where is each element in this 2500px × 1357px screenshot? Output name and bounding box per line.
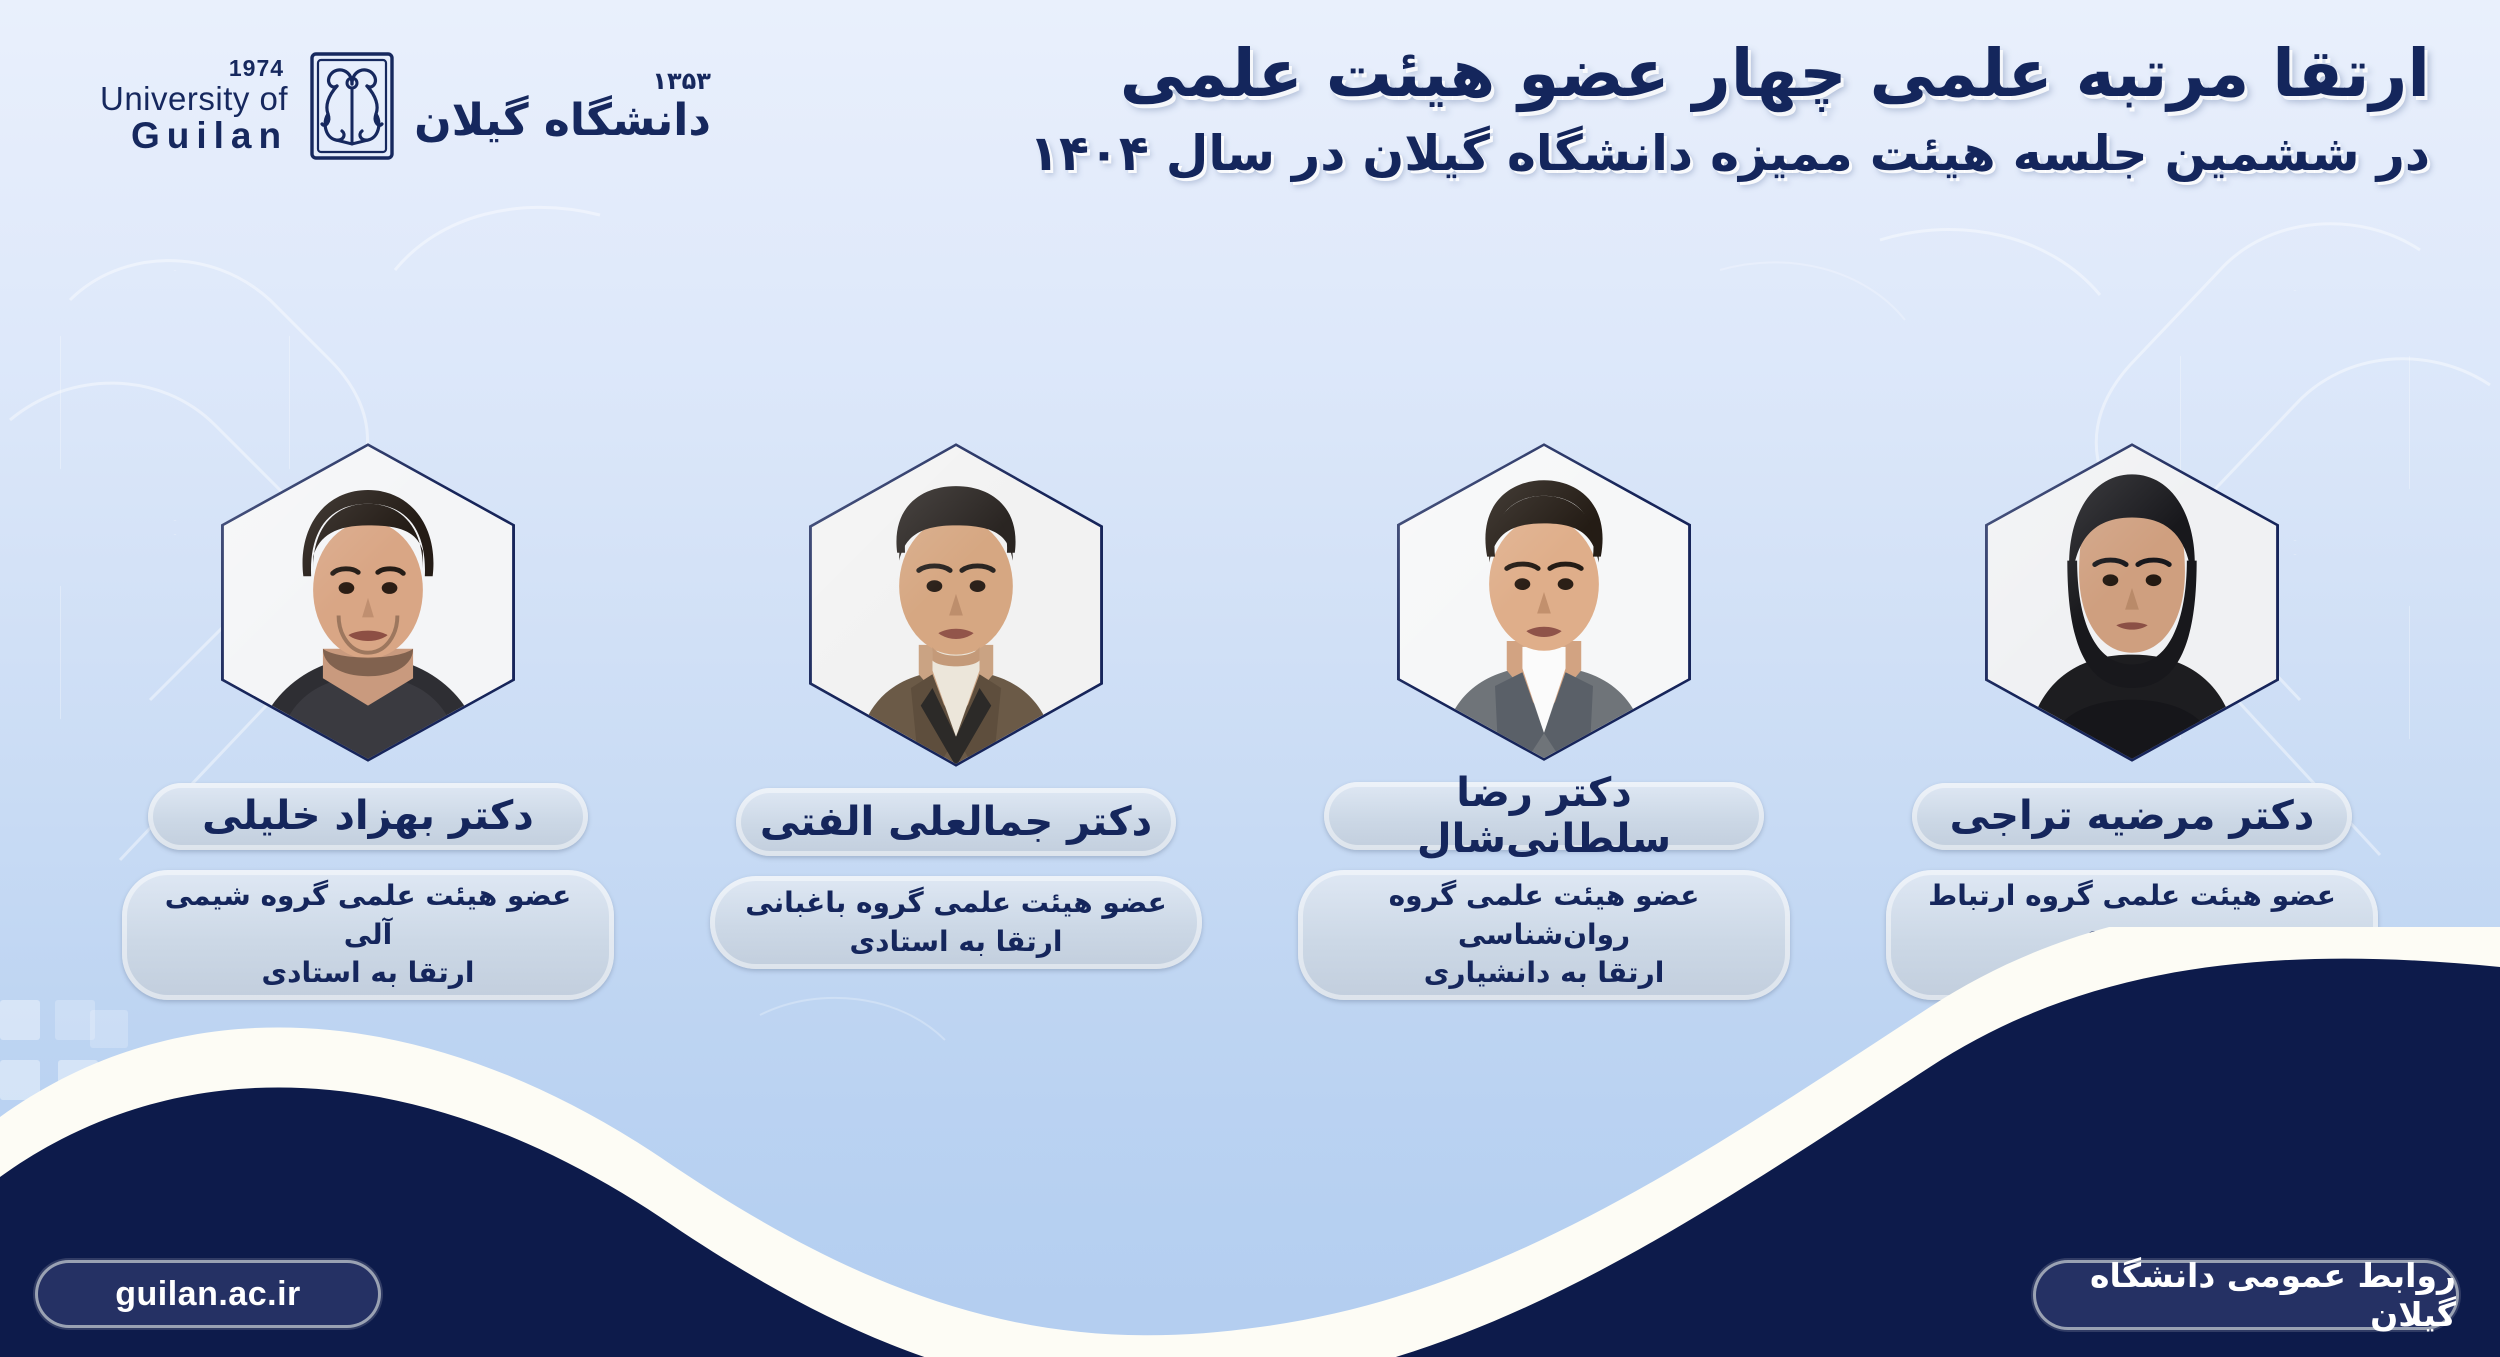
faculty-portrait — [1397, 443, 1691, 761]
public-relations-badge: روابط عمومی دانشگاه گیلان — [2036, 1263, 2456, 1327]
page-subtitle: در ششمین جلسه هیئت ممیزه دانشگاه گیلان د… — [730, 123, 2430, 184]
faculty-name: دکتر مرضیه تراجی — [1912, 783, 2352, 850]
faculty-department: عضو هیئت علمی گروه باغبانی — [726, 884, 1186, 923]
faculty-card: دکتر جمالعلی الفتی عضو هیئت علمی گروه با… — [696, 440, 1216, 1000]
logo-guilan-word: Guilan — [131, 117, 288, 156]
faculty-photo-frame — [1394, 440, 1694, 764]
page-title: ارتقا مرتبه علمی چهار عضو هیئت علمی — [730, 34, 2430, 115]
faculty-portrait — [221, 443, 515, 762]
faculty-photo-frame — [1982, 440, 2282, 765]
faculty-name: دکتر رضا سلطانی‌شال — [1324, 782, 1764, 850]
faculty-photo-frame — [218, 440, 518, 765]
faculty-card: دکتر مرضیه تراجی عضو هیئت علمی گروه ارتب… — [1872, 440, 2392, 1000]
university-logo: 1974 University of Guilan ۱۳۵۳ دانشگاه گ… — [100, 26, 740, 186]
faculty-portrait — [1985, 443, 2279, 762]
logo-university-word: University of — [100, 82, 288, 117]
faculty-card: دکتر بهزاد خلیلی عضو هیئت علمی گروه شیمی… — [108, 440, 628, 1000]
logo-year-persian: ۱۳۵۳ — [652, 67, 711, 95]
logo-university-name-persian: دانشگاه گیلان — [414, 97, 711, 145]
faculty-portrait — [809, 443, 1103, 766]
title-block: ارتقا مرتبه علمی چهار عضو هیئت علمی در ش… — [730, 34, 2430, 184]
website-badge[interactable]: guilan.ac.ir — [38, 1263, 378, 1325]
faculty-name: دکتر جمالعلی الفتی — [736, 788, 1176, 856]
logo-year-english: 1974 — [229, 56, 284, 80]
logo-english-text: 1974 University of Guilan — [100, 56, 288, 156]
faculty-name: دکتر بهزاد خلیلی — [148, 783, 588, 850]
guilan-emblem-icon — [304, 48, 400, 164]
logo-persian-text: ۱۳۵۳ دانشگاه گیلان — [414, 67, 711, 145]
faculty-photo-frame — [806, 440, 1106, 770]
poster-canvas: 1974 University of Guilan ۱۳۵۳ دانشگاه گ… — [0, 0, 2500, 1357]
faculty-card: دکتر رضا سلطانی‌شال عضو هیئت علمی گروه ر… — [1284, 440, 1804, 1000]
faculty-members-row: دکتر بهزاد خلیلی عضو هیئت علمی گروه شیمی… — [0, 440, 2500, 1000]
